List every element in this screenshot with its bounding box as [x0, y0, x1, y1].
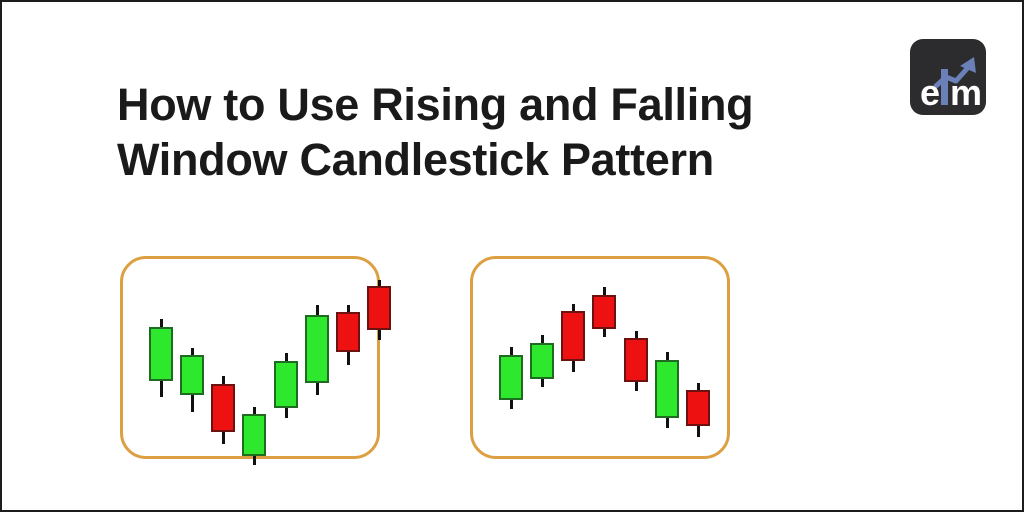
candle-body — [530, 343, 554, 379]
candle-body — [305, 315, 329, 383]
candle-body — [274, 361, 298, 408]
candle-up — [530, 335, 554, 387]
falling-window-chart-panel — [470, 256, 730, 459]
candle-body — [367, 286, 391, 330]
logo-letter-e: e — [920, 72, 940, 113]
candle-body — [242, 414, 266, 456]
candle-up — [180, 348, 204, 412]
candle-body — [499, 355, 523, 400]
candle-down — [336, 305, 360, 365]
candle-down — [592, 287, 616, 337]
candle-up — [274, 353, 298, 418]
image-canvas: How to Use Rising and Falling Window Can… — [0, 0, 1024, 512]
candle-body — [211, 384, 235, 432]
candle-body — [149, 327, 173, 381]
candle-down — [561, 304, 585, 372]
elm-logo: e m — [910, 39, 986, 115]
candle-body — [624, 338, 648, 382]
candle-up — [149, 319, 173, 397]
logo-bar-l — [941, 69, 948, 105]
falling-window-plot — [473, 259, 727, 456]
logo-graphic: e m — [910, 39, 986, 115]
candle-body — [686, 390, 710, 426]
candle-up — [655, 352, 679, 428]
candle-up — [305, 305, 329, 395]
candle-body — [655, 360, 679, 418]
candle-body — [561, 311, 585, 361]
candle-body — [336, 312, 360, 352]
rising-window-plot — [123, 259, 377, 456]
rising-window-chart-panel — [120, 256, 380, 459]
candle-down — [367, 280, 391, 340]
candle-up — [242, 407, 266, 465]
page-title: How to Use Rising and Falling Window Can… — [117, 77, 837, 187]
candle-body — [592, 295, 616, 329]
candle-body — [180, 355, 204, 395]
logo-letter-m: m — [950, 72, 982, 113]
candle-down — [686, 383, 710, 437]
candle-down — [624, 331, 648, 391]
candle-down — [211, 376, 235, 444]
candle-up — [499, 347, 523, 409]
